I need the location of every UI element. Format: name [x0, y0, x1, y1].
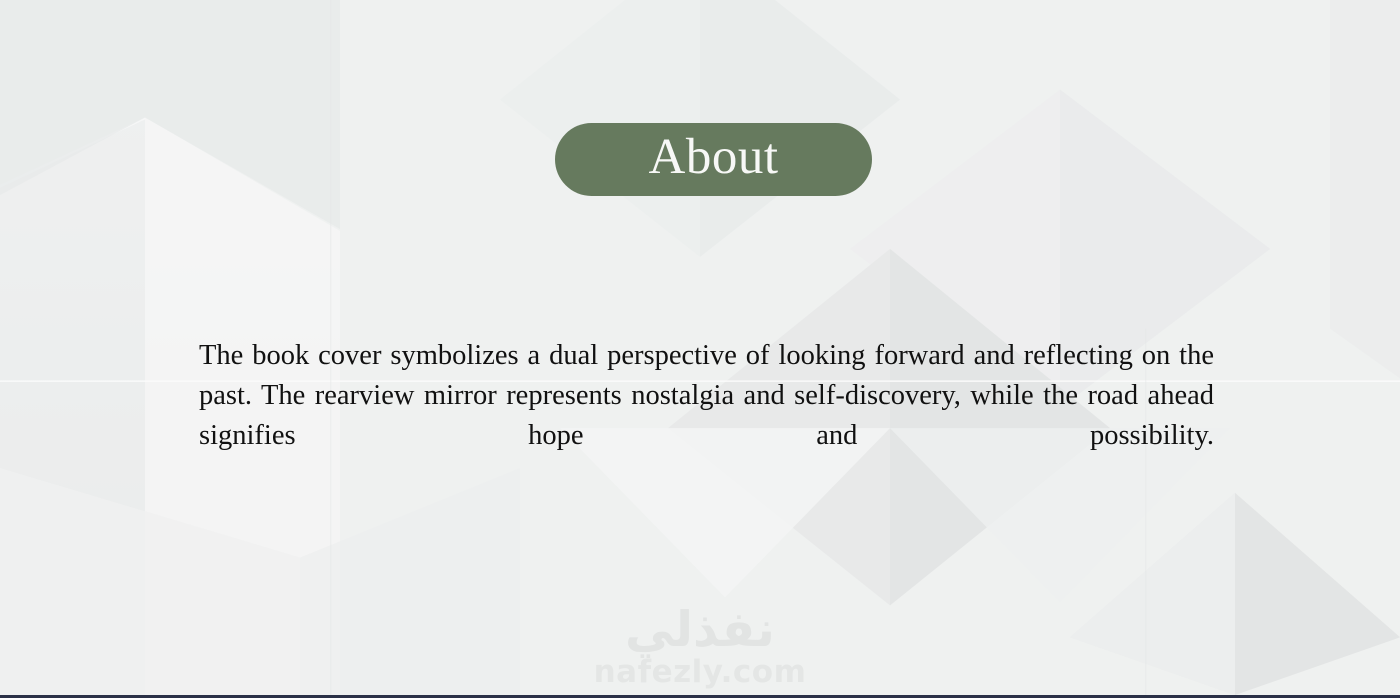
- about-body-block: The book cover symbolizes a dual perspec…: [199, 336, 1214, 496]
- about-body-paragraph: The book cover symbolizes a dual perspec…: [199, 336, 1214, 496]
- watermark-arabic-logo: نفذلي: [625, 605, 775, 654]
- watermark: نفذلي nafezly.com: [0, 605, 1400, 689]
- about-heading-label: About: [649, 132, 779, 187]
- about-heading-pill: About: [555, 123, 872, 196]
- watermark-domain-text: nafezly.com: [594, 656, 807, 689]
- about-slide: About The book cover symbolizes a dual p…: [0, 0, 1400, 698]
